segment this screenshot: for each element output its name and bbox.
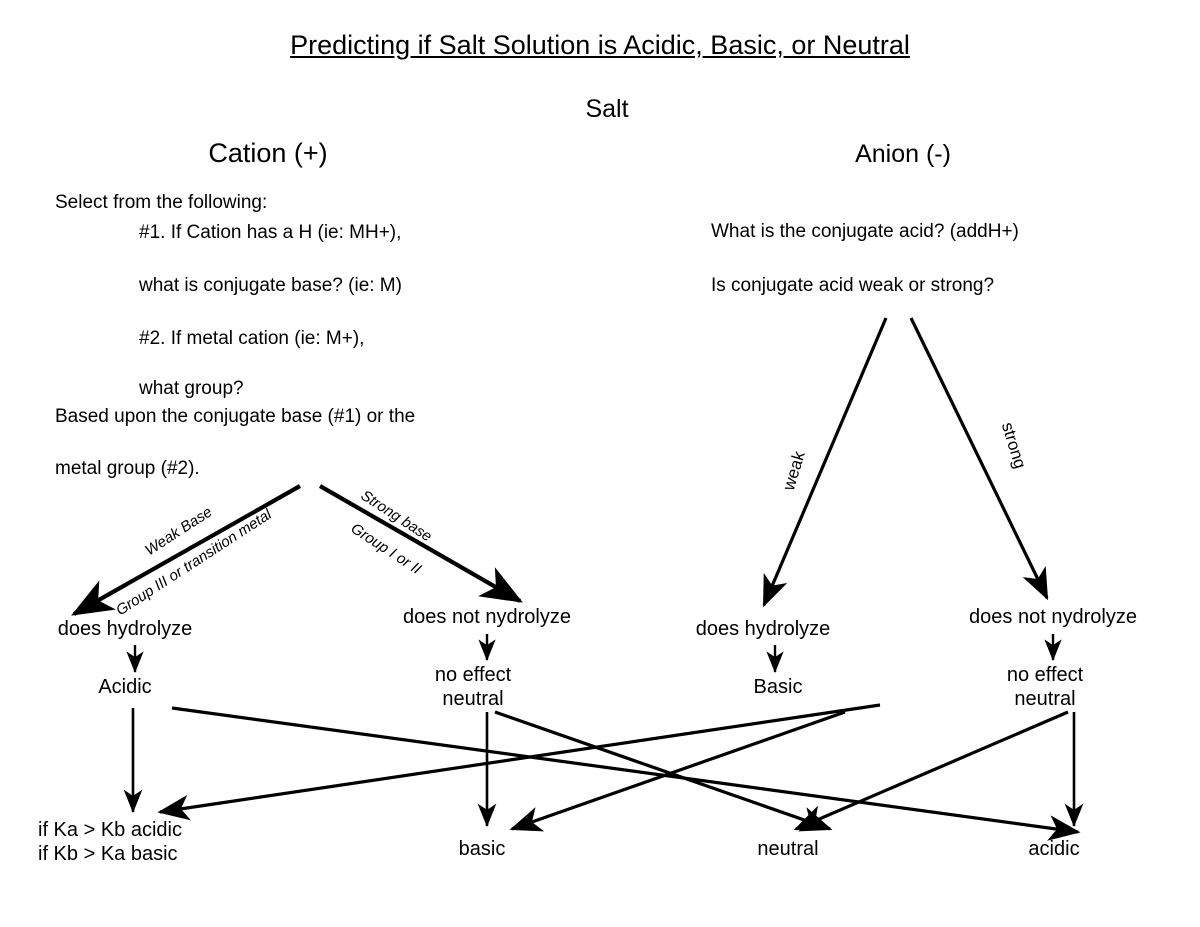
page-title: Predicting if Salt Solution is Acidic, B… [290, 30, 910, 62]
edge-label-weak: weak [779, 449, 810, 493]
anion-no-effect-neutral: no effect neutral [1007, 664, 1083, 711]
anion-question-1: What is the conjugate acid? (addH+) [711, 221, 1019, 243]
final-ka-gt-kb: if Ka > Kb acidic [38, 819, 182, 843]
cation-rule-1-line-2: what is conjugate base? (ie: M) [139, 275, 402, 297]
anion-does-not-hydrolyze: does not nydrolyze [969, 606, 1137, 630]
final-acidic: acidic [1028, 838, 1079, 862]
diagram-canvas: Predicting if Salt Solution is Acidic, B… [0, 0, 1200, 927]
anion-no-effect-line-1: no effect [1007, 664, 1083, 688]
arrow-cation-strong-branch [320, 486, 520, 601]
anion-question-2: Is conjugate acid weak or strong? [711, 275, 994, 297]
salt-label: Salt [585, 95, 628, 125]
arrow-cation-weak-branch [74, 486, 300, 614]
anion-heading: Anion (-) [855, 140, 951, 170]
arrow-acidic-to-neutral [172, 708, 1078, 832]
cation-acidic-node: Acidic [98, 676, 151, 700]
cation-basis-line-1: Based upon the conjugate base (#1) or th… [55, 406, 415, 428]
cation-basis-line-2: metal group (#2). [55, 458, 200, 480]
arrow-basic-to-ka-compare [160, 705, 880, 812]
final-neutral: neutral [757, 838, 818, 862]
cation-rule-1-line-1: #1. If Cation has a H (ie: MH+), [139, 222, 401, 244]
cation-does-hydrolyze: does hydrolyze [58, 618, 193, 642]
arrow-basic-to-basic [512, 712, 845, 829]
anion-does-hydrolyze: does hydrolyze [696, 618, 831, 642]
cation-no-effect-neutral: no effect neutral [435, 664, 511, 711]
final-basic: basic [459, 838, 506, 862]
cation-rule-2-line-2: what group? [139, 378, 244, 400]
arrow-anion-neutral-to-neutral [796, 712, 1068, 829]
cation-neutral-line-2: neutral [435, 688, 511, 712]
anion-basic-node: Basic [754, 676, 803, 700]
final-ka-kb-comparison: if Ka > Kb acidic if Kb > Ka basic [38, 819, 182, 866]
anion-neutral-line-2: neutral [1007, 688, 1083, 712]
cation-does-not-hydrolyze: does not nydrolyze [403, 606, 571, 630]
cation-rule-2-line-1: #2. If metal cation (ie: M+), [139, 328, 364, 350]
cation-no-effect-line-1: no effect [435, 664, 511, 688]
cation-select-prompt: Select from the following: [55, 192, 267, 214]
arrow-anion-weak-branch [764, 318, 886, 605]
edge-label-strong: strong [997, 420, 1030, 471]
arrow-cation-neutral-to-neutral [495, 712, 830, 829]
final-kb-gt-ka: if Kb > Ka basic [38, 843, 182, 867]
cation-heading: Cation (+) [208, 138, 327, 170]
